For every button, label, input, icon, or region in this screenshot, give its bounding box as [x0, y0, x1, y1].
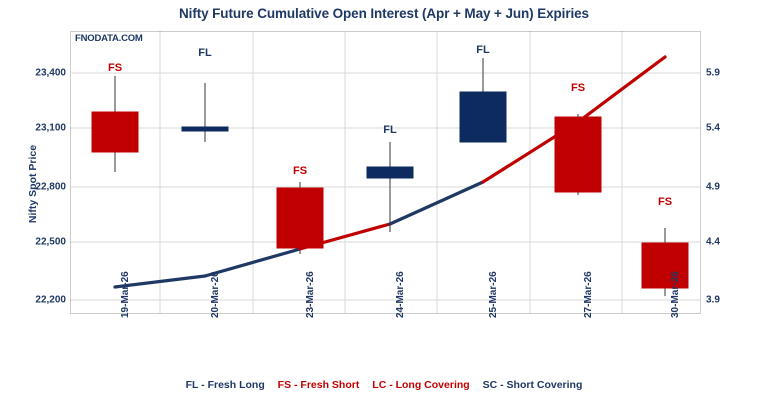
x-axis-tick-label: 23-Mar-26: [305, 228, 316, 318]
y-axis-left-tick-label: 23,400: [0, 68, 66, 79]
y-axis-right-tick-label: 4.4: [706, 237, 766, 248]
legend-item-lc: LC - Long Covering: [372, 379, 469, 391]
y-axis-left-title: Nifty Spot Price: [27, 104, 39, 264]
candle-body: [182, 127, 228, 131]
candle-signal-label: FL: [360, 124, 420, 136]
x-axis-tick-label: 27-Mar-26: [583, 228, 594, 318]
legend-item-sc: SC - Short Covering: [483, 379, 583, 391]
watermark-fnodata: FNODATA.COM: [75, 33, 143, 44]
x-axis-tick-label: 20-Mar-26: [210, 228, 221, 318]
y-axis-right-tick-label: 5.9: [706, 68, 766, 79]
candle-body: [460, 92, 506, 142]
candle-body: [367, 167, 413, 178]
candle-signal-label: FS: [270, 165, 330, 177]
candle-signal-label: FL: [453, 44, 513, 56]
candle-signal-label: FL: [175, 47, 235, 59]
x-axis-tick-label: 25-Mar-26: [488, 228, 499, 318]
candle-signal-label: FS: [85, 62, 145, 74]
candle-signal-label: FS: [548, 82, 608, 94]
candle-signal-label: FS: [635, 196, 695, 208]
x-axis-tick-label: 30-Mar-26: [670, 228, 681, 318]
candle-body: [92, 112, 138, 152]
y-axis-right-tick-label: 4.9: [706, 182, 766, 193]
legend: FL - Fresh Long FS - Fresh Short LC - Lo…: [0, 379, 768, 391]
legend-item-fs: FS - Fresh Short: [278, 379, 360, 391]
x-axis-tick-label: 24-Mar-26: [395, 228, 406, 318]
y-axis-right-tick-label: 5.4: [706, 123, 766, 134]
candle-body: [555, 117, 601, 192]
legend-item-fl: FL - Fresh Long: [186, 379, 265, 391]
chart-container: Nifty Future Cumulative Open Interest (A…: [0, 0, 768, 404]
y-axis-right-tick-label: 3.9: [706, 295, 766, 306]
candle-body: [277, 188, 323, 248]
candle-body: [642, 243, 688, 288]
y-axis-left-tick-label: 22,200: [0, 295, 66, 306]
x-axis-tick-label: 19-Mar-26: [120, 228, 131, 318]
